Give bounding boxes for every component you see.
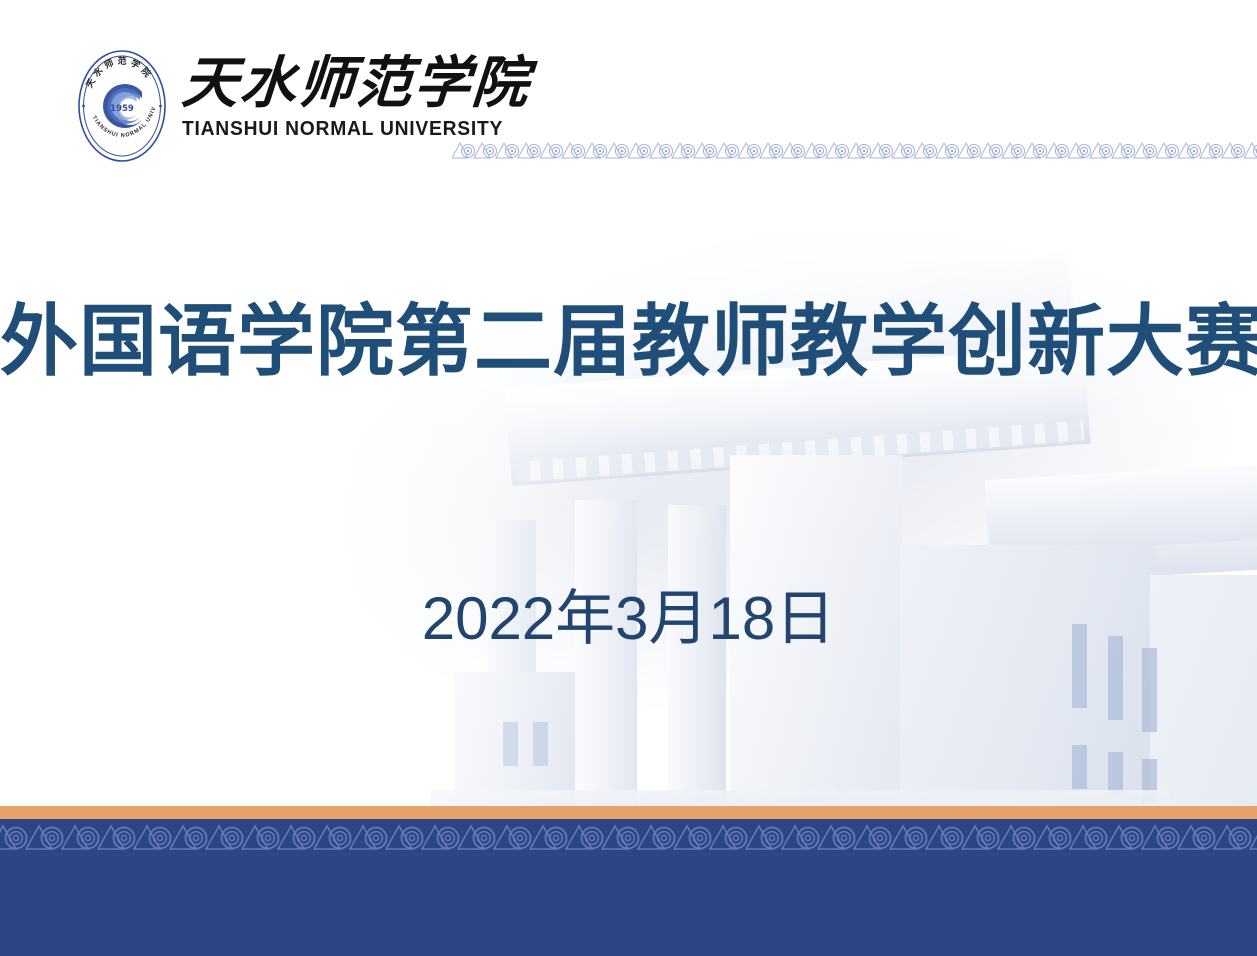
university-logo: 1959 天水师范学院 TIANSHUI NORMAL UNIVERSITY 天… [76, 48, 530, 164]
presentation-slide: 1959 天水师范学院 TIANSHUI NORMAL UNIVERSITY 天… [0, 0, 1257, 956]
building-column-right [668, 505, 726, 825]
building-lintel-upper-right [985, 465, 1257, 558]
footer-wave-pattern [0, 819, 1257, 857]
building-window [1072, 745, 1087, 789]
wave-scroll-icon [0, 819, 1257, 857]
footer-accent-stripe [0, 806, 1257, 819]
building-window [503, 722, 518, 766]
building-window [1108, 752, 1123, 796]
building-window [1142, 759, 1157, 803]
building-window [533, 722, 548, 766]
header-wave-band [452, 138, 1257, 164]
university-wordmark: 天水师范学院 TIANSHUI NORMAL UNIVERSITY [182, 48, 530, 141]
building-column-left [488, 520, 536, 825]
university-seal-icon: 1959 天水师范学院 TIANSHUI NORMAL UNIVERSITY [76, 48, 168, 164]
svg-text:1959: 1959 [110, 104, 134, 114]
wave-scroll-icon [452, 138, 1257, 164]
building-column-mid [575, 500, 637, 825]
building-window [1142, 648, 1157, 732]
slide-title: 外国语学院第二届教师教学创新大赛 [0, 302, 1257, 384]
university-name-en: TIANSHUI NORMAL UNIVERSITY [182, 117, 509, 141]
footer-band [0, 819, 1257, 956]
slide-date: 2022年3月18日 [0, 586, 1257, 652]
university-name-cn: 天水师范学院 [180, 52, 532, 115]
building-lintel-lower-right [985, 540, 1257, 585]
building-pediment-dentils [517, 420, 1085, 482]
building-pedestal-left [455, 672, 575, 825]
